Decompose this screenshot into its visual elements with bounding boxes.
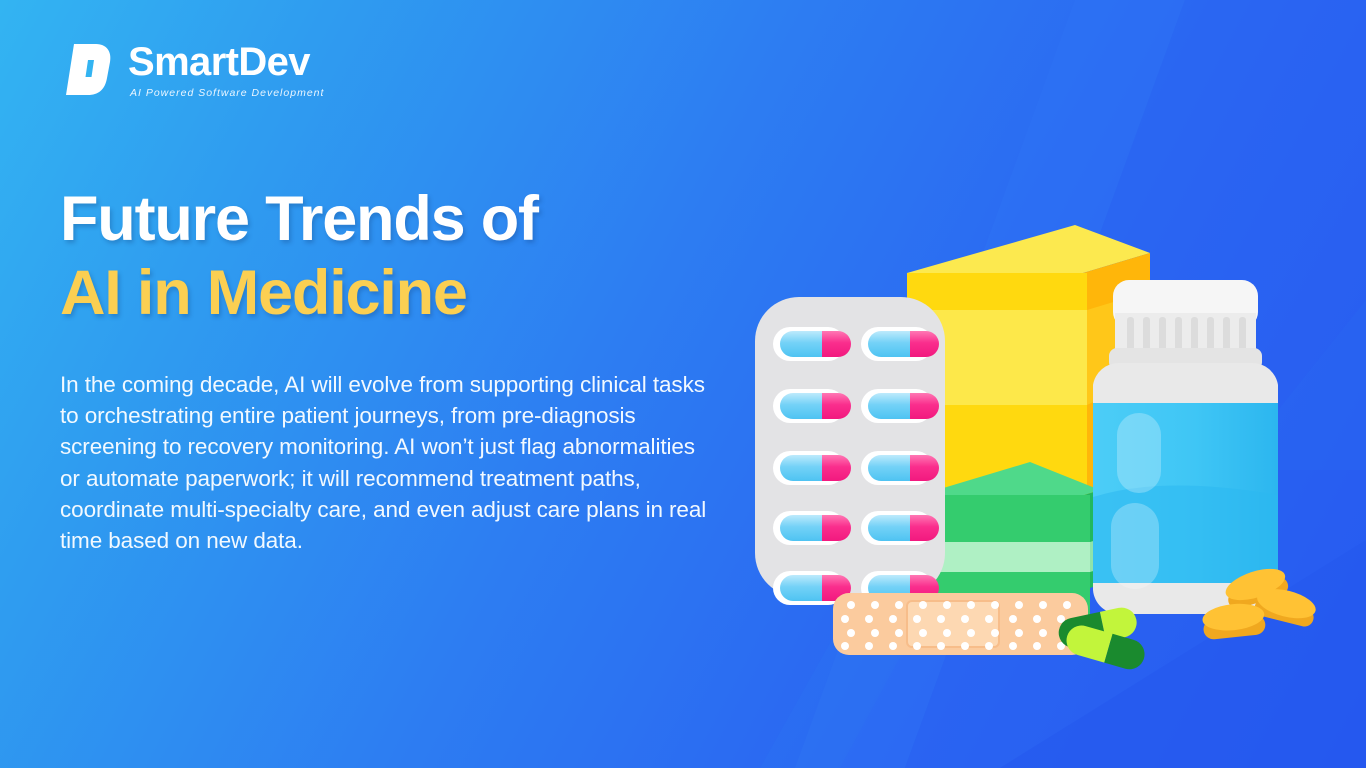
blister-pack <box>755 297 945 605</box>
headline-line-2: AI in Medicine <box>60 256 760 330</box>
slide-canvas: SmartDev AI Powered Software Development… <box>0 0 1366 768</box>
brand-name: SmartDev <box>128 42 324 82</box>
headline-line-1: Future Trends of <box>60 182 760 256</box>
pill-bottle <box>1093 280 1278 614</box>
page-title: Future Trends of AI in Medicine <box>60 182 760 331</box>
green-box-band-light <box>920 542 1090 572</box>
adhesive-bandage <box>833 593 1088 655</box>
brand-logo-text: SmartDev AI Powered Software Development <box>128 40 324 99</box>
brand-logo[interactable]: SmartDev AI Powered Software Development <box>62 40 324 99</box>
smartdev-d-mark-icon <box>62 40 114 98</box>
medicine-illustration <box>735 185 1335 675</box>
brand-tagline: AI Powered Software Development <box>128 87 324 99</box>
body-paragraph: In the coming decade, AI will evolve fro… <box>60 369 720 556</box>
